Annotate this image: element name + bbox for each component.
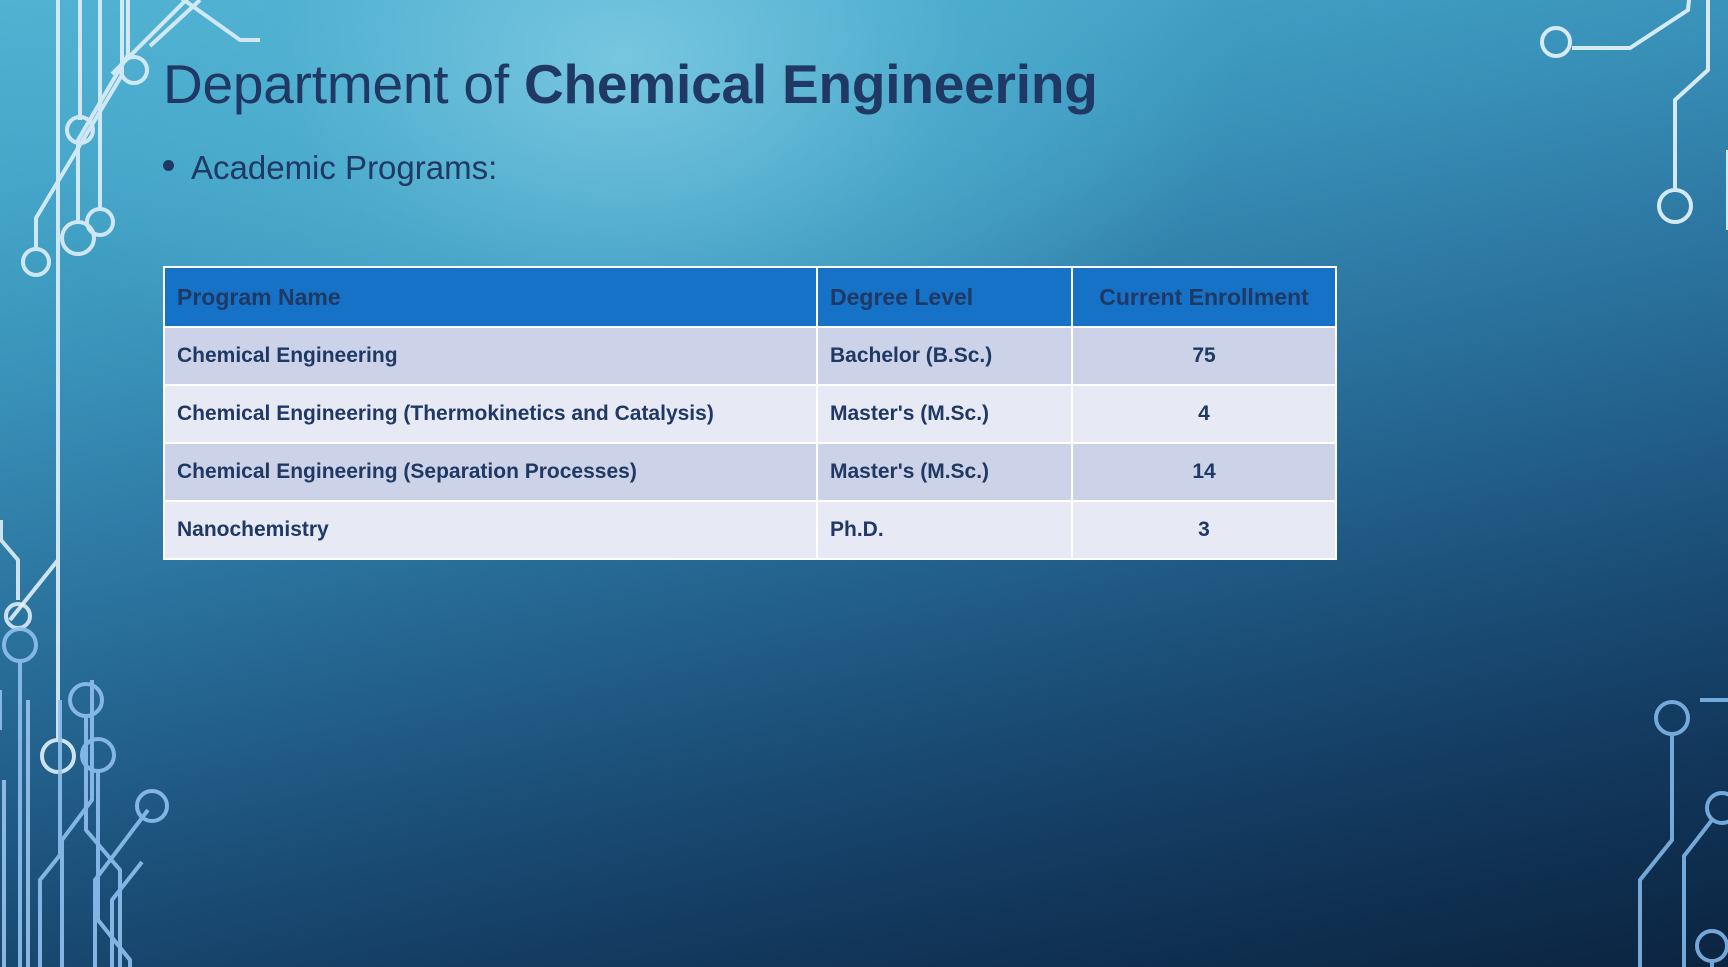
column-header-program-name: Program Name (165, 268, 816, 326)
cell-program-name: Nanochemistry (165, 502, 816, 558)
cell-program-name: Chemical Engineering (Separation Process… (165, 444, 816, 500)
slide: Department of Chemical Engineering Acade… (0, 0, 1728, 967)
cell-current-enrollment: 14 (1073, 444, 1335, 500)
table-row: Chemical Engineering Bachelor (B.Sc.) 75 (165, 328, 1335, 384)
cell-degree-level: Master's (M.Sc.) (818, 444, 1071, 500)
cell-program-name: Chemical Engineering (165, 328, 816, 384)
bullet-item-academic-programs: Academic Programs: (163, 146, 497, 190)
column-header-current-enrollment: Current Enrollment (1073, 268, 1335, 326)
table-header: Program Name Degree Level Current Enroll… (165, 268, 1335, 326)
cell-degree-level: Master's (M.Sc.) (818, 386, 1071, 442)
bullet-dot-icon (163, 160, 174, 171)
table-body: Chemical Engineering Bachelor (B.Sc.) 75… (165, 328, 1335, 558)
page-title-light: Department of (163, 53, 524, 115)
column-header-degree-level: Degree Level (818, 268, 1071, 326)
cell-current-enrollment: 3 (1073, 502, 1335, 558)
cell-degree-level: Ph.D. (818, 502, 1071, 558)
table-header-row: Program Name Degree Level Current Enroll… (165, 268, 1335, 326)
cell-current-enrollment: 4 (1073, 386, 1335, 442)
table-row: Chemical Engineering (Separation Process… (165, 444, 1335, 500)
table-row: Nanochemistry Ph.D. 3 (165, 502, 1335, 558)
bullet-item-label: Academic Programs: (191, 146, 497, 190)
cell-degree-level: Bachelor (B.Sc.) (818, 328, 1071, 384)
page-title: Department of Chemical Engineering (163, 48, 1098, 120)
cell-program-name: Chemical Engineering (Thermokinetics and… (165, 386, 816, 442)
cell-current-enrollment: 75 (1073, 328, 1335, 384)
academic-programs-table: Program Name Degree Level Current Enroll… (163, 266, 1337, 560)
table-row: Chemical Engineering (Thermokinetics and… (165, 386, 1335, 442)
page-title-bold: Chemical Engineering (524, 53, 1098, 115)
academic-programs-table-container: Program Name Degree Level Current Enroll… (163, 266, 1331, 560)
